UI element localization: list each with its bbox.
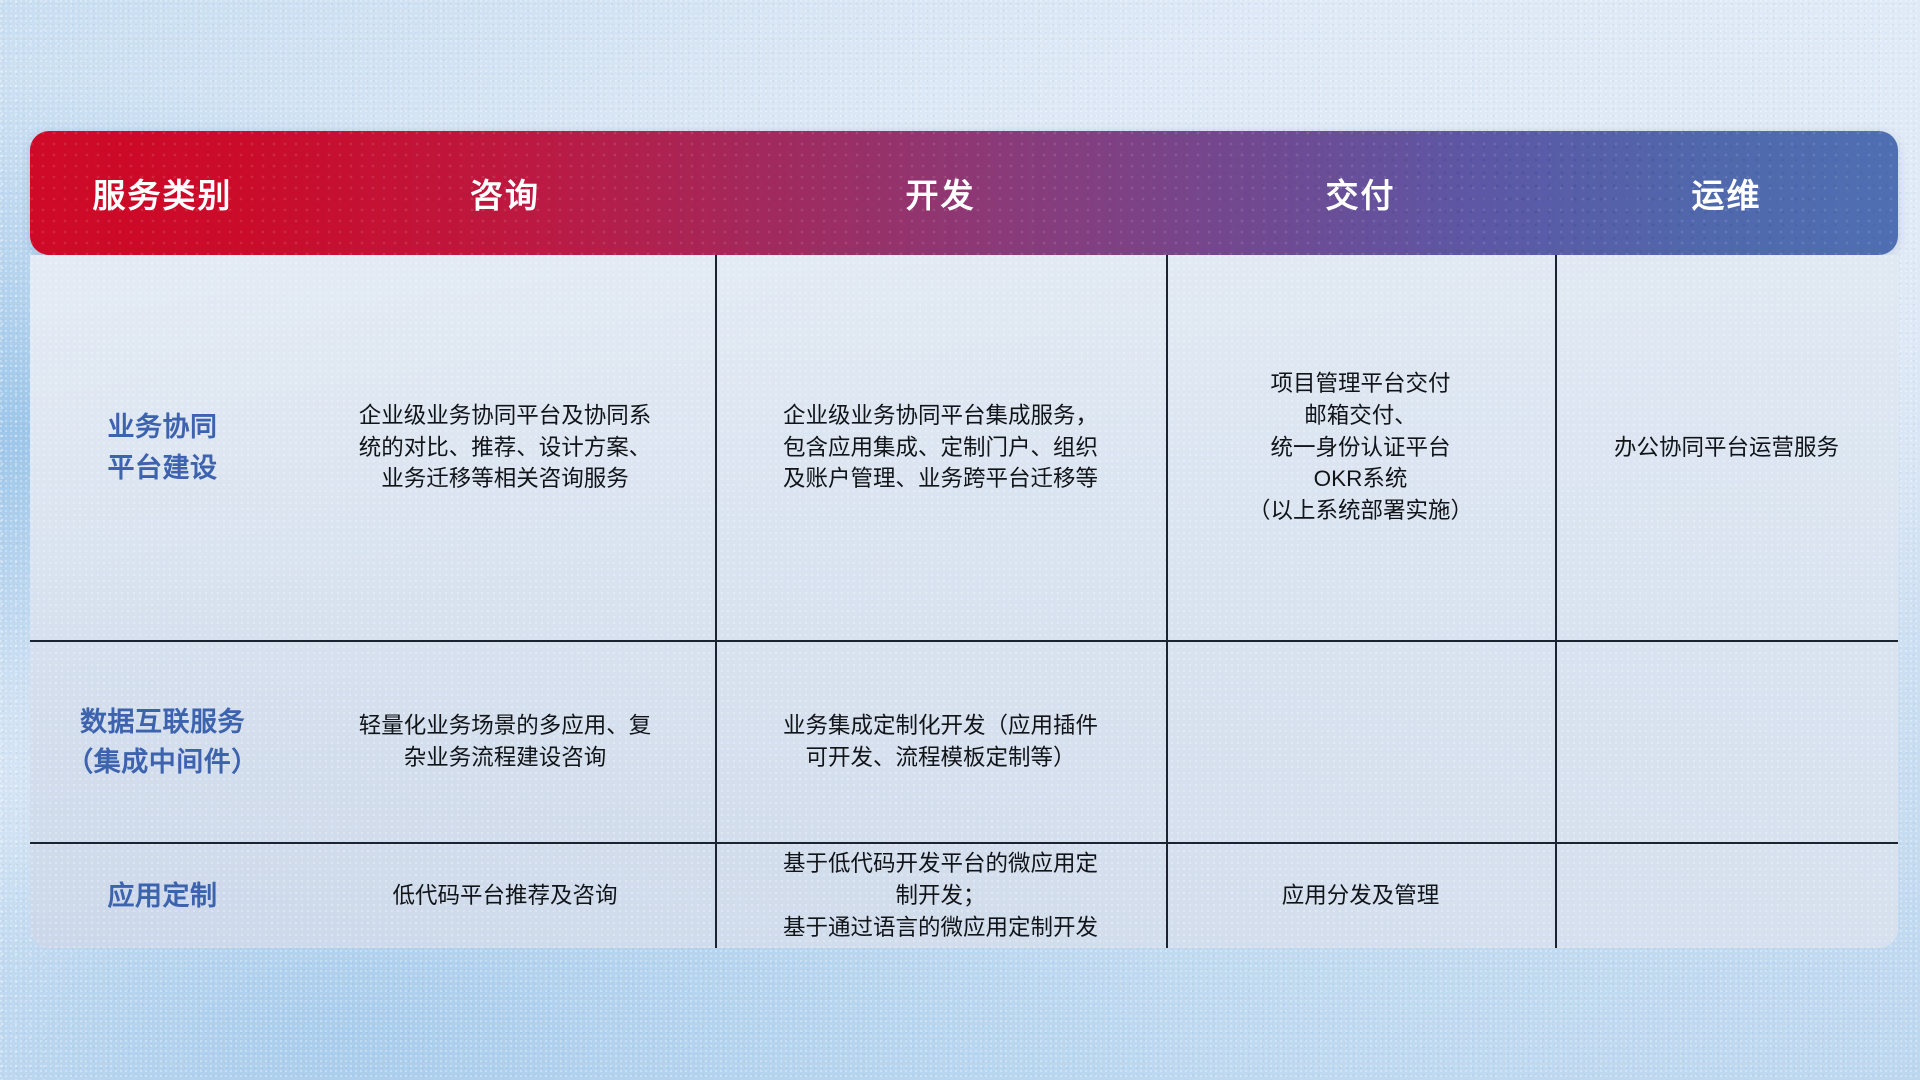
cell-delivery: 项目管理平台交付 邮箱交付、 统一身份认证平台 OKR系统 （以上系统部署实施） xyxy=(1166,255,1555,640)
table-header-row: 服务类别 咨询 开发 交付 运维 xyxy=(30,131,1898,255)
cell-category: 数据互联服务 （集成中间件） xyxy=(30,642,295,842)
cell-development: 业务集成定制化开发（应用插件 可开发、流程模板定制等） xyxy=(715,642,1166,842)
cell-category: 应用定制 xyxy=(30,844,295,948)
column-header-development[interactable]: 开发 xyxy=(715,169,1166,217)
cell-consulting: 轻量化业务场景的多应用、复 杂业务流程建设咨询 xyxy=(295,642,715,842)
table-row: 业务协同 平台建设 企业级业务协同平台及协同系 统的对比、推荐、设计方案、 业务… xyxy=(30,255,1898,640)
table-body: 业务协同 平台建设 企业级业务协同平台及协同系 统的对比、推荐、设计方案、 业务… xyxy=(30,255,1898,948)
column-header-service-category[interactable]: 服务类别 xyxy=(30,169,295,217)
service-matrix-table: 服务类别 咨询 开发 交付 运维 业务协同 平台建设 企业级业务协同平台及协同系… xyxy=(30,131,1898,948)
cell-category: 业务协同 平台建设 xyxy=(30,255,295,640)
column-header-operations[interactable]: 运维 xyxy=(1555,169,1898,217)
cell-development: 企业级业务协同平台集成服务， 包含应用集成、定制门户、组织 及账户管理、业务跨平… xyxy=(715,255,1166,640)
column-header-delivery[interactable]: 交付 xyxy=(1166,169,1555,217)
cell-operations xyxy=(1555,642,1898,842)
table-row: 应用定制 低代码平台推荐及咨询 基于低代码开发平台的微应用定 制开发； 基于通过… xyxy=(30,844,1898,948)
cell-delivery: 应用分发及管理 xyxy=(1166,844,1555,948)
table-row: 数据互联服务 （集成中间件） 轻量化业务场景的多应用、复 杂业务流程建设咨询 业… xyxy=(30,642,1898,842)
cell-development: 基于低代码开发平台的微应用定 制开发； 基于通过语言的微应用定制开发 xyxy=(715,844,1166,948)
cell-operations xyxy=(1555,844,1898,948)
cell-consulting: 低代码平台推荐及咨询 xyxy=(295,844,715,948)
cell-delivery xyxy=(1166,642,1555,842)
column-header-consulting[interactable]: 咨询 xyxy=(295,169,715,217)
cell-consulting: 企业级业务协同平台及协同系 统的对比、推荐、设计方案、 业务迁移等相关咨询服务 xyxy=(295,255,715,640)
cell-operations: 办公协同平台运营服务 xyxy=(1555,255,1898,640)
